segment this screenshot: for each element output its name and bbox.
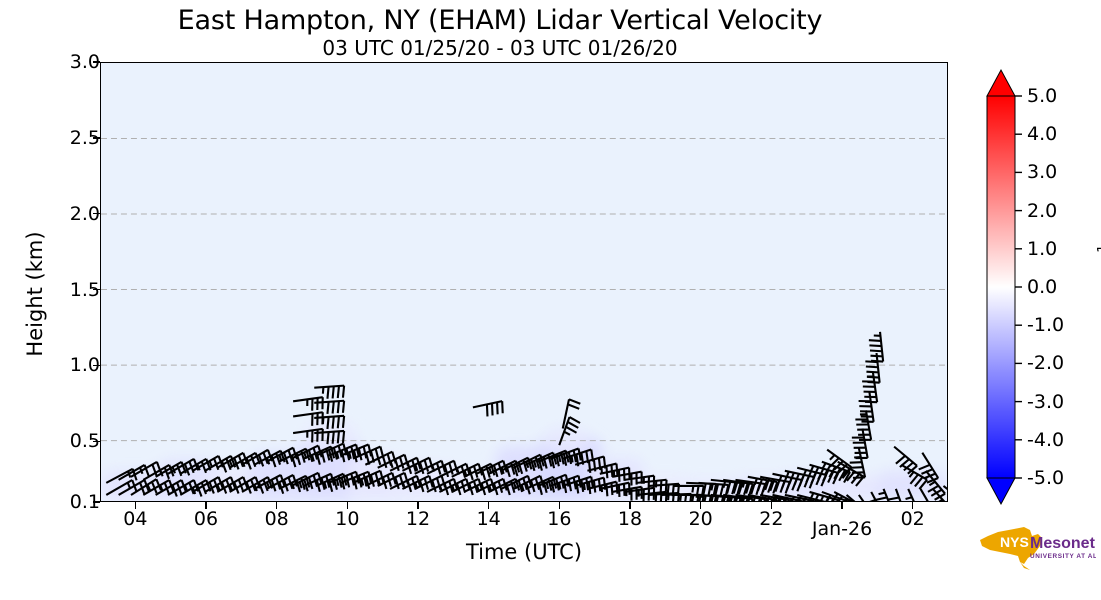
colorbar-tick-label-7: 2.0 [1027,200,1057,222]
x-tick-label-9: 22 [759,508,783,530]
x-tick-label-0: 04 [123,508,147,530]
colorbar: m s-1 -5.0-4.0-3.0-2.0-1.00.01.02.03.04.… [985,62,1101,514]
colorbar-tick-label-6: 1.0 [1027,238,1057,260]
colorbar-tick-label-10: 5.0 [1027,85,1057,107]
colorbar-tick-label-2: -3.0 [1027,391,1064,413]
colorbar-tick-label-1: -4.0 [1027,429,1064,451]
x-tick-label-10: Jan-26 [812,518,872,540]
x-tick-mark-9 [771,502,772,509]
logo-svg: NYS Mesonet UNIVERSITY AT ALBANY [968,520,1096,578]
colorbar-extend-max-arrow [987,70,1015,96]
x-tick-label-7: 18 [618,508,642,530]
x-tick-mark-7 [629,502,630,509]
logo-sub-text: UNIVERSITY AT ALBANY [1030,553,1096,560]
colorbar-body [987,96,1015,478]
x-axis: 04060810121416182022Jan-2602 [0,0,1101,600]
x-tick-mark-4 [417,502,418,509]
x-tick-label-8: 20 [689,508,713,530]
x-tick-label-3: 10 [335,508,359,530]
x-tick-mark-3 [347,502,348,509]
colorbar-tick-label-8: 3.0 [1027,161,1057,183]
colorbar-tick-label-0: -5.0 [1027,467,1064,489]
nys-mesonet-logo: NYS Mesonet UNIVERSITY AT ALBANY [968,520,1096,578]
x-tick-mark-0 [135,502,136,509]
figure-canvas: East Hampton, NY (EHAM) Lidar Vertical V… [0,0,1101,600]
x-tick-mark-1 [205,502,206,509]
x-tick-label-4: 12 [406,508,430,530]
x-tick-label-11: 02 [901,508,925,530]
logo-brand-text: Mesonet [1030,535,1096,552]
x-tick-mark-11 [912,502,913,509]
x-tick-mark-8 [700,502,701,509]
colorbar-unit: m s [1096,257,1101,295]
colorbar-tick-label-3: -2.0 [1027,352,1064,374]
x-tick-label-5: 14 [477,508,501,530]
x-tick-mark-5 [488,502,489,509]
x-tick-label-6: 16 [547,508,571,530]
x-tick-label-2: 08 [265,508,289,530]
colorbar-extend-min-arrow [987,478,1015,504]
colorbar-tick-label-4: -1.0 [1027,314,1064,336]
colorbar-tick-label-9: 4.0 [1027,123,1057,145]
colorbar-tick-label-5: 0.0 [1027,276,1057,298]
x-tick-mark-10 [841,502,842,509]
x-axis-label: Time (UTC) [100,540,948,564]
logo-nys-text: NYS [1000,534,1029,550]
x-tick-mark-6 [559,502,560,509]
x-tick-mark-2 [276,502,277,509]
colorbar-label: m s-1 [1096,210,1101,330]
x-tick-label-1: 06 [194,508,218,530]
colorbar-exponent: -1 [1096,244,1101,257]
